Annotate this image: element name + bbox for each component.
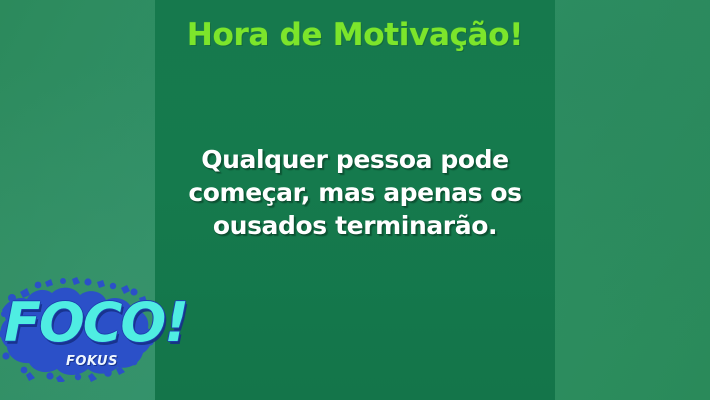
quote-line-2: começar, mas apenas os (155, 176, 555, 209)
quote-line-3: ousados terminarão. (155, 209, 555, 242)
logo-wordmark: FOCO! (4, 296, 156, 350)
quote-text-block: Qualquer pessoa pode começar, mas apenas… (155, 143, 555, 242)
motivational-quote-card: Hora de Motivação! Qualquer pessoa pode … (0, 0, 710, 400)
logo-subtitle: FOKUS (66, 354, 118, 369)
page-title: Hora de Motivação! (155, 17, 555, 53)
quote-line-1: Qualquer pessoa pode (155, 143, 555, 176)
foco-logo: FOCO! FOKUS (0, 276, 160, 382)
